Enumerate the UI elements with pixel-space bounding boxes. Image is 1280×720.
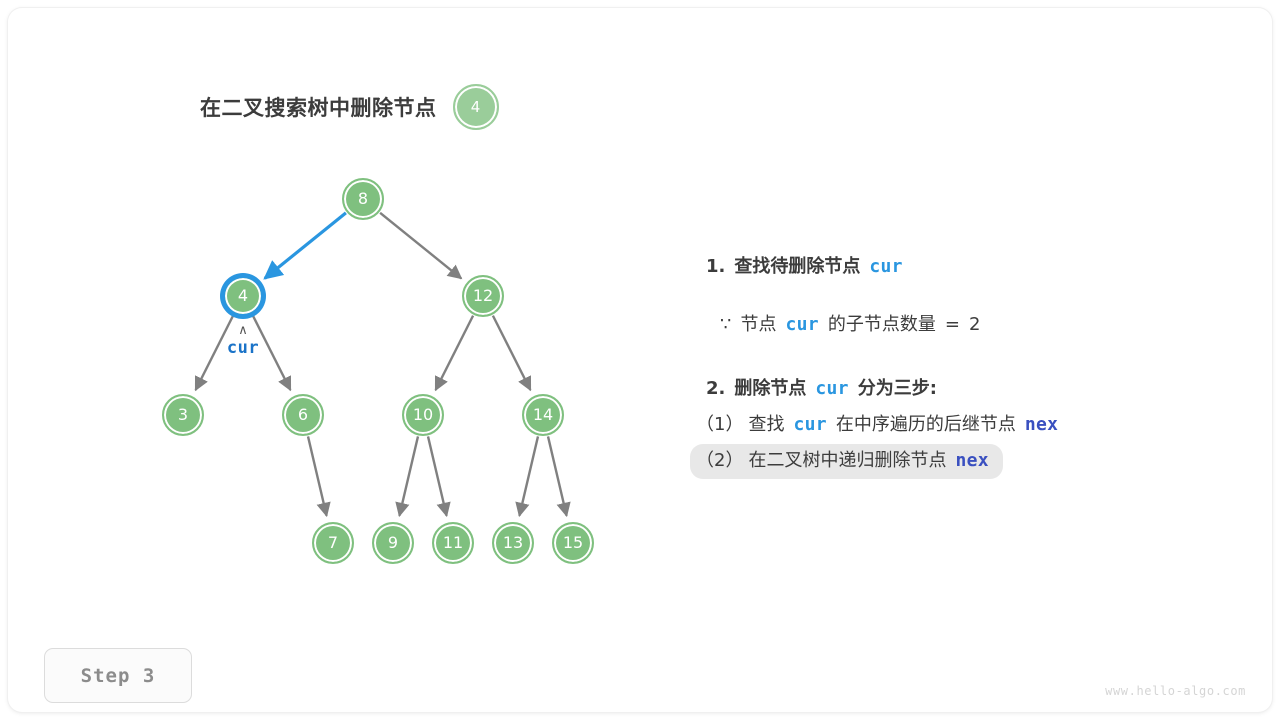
tree-node-7[interactable]: 7 xyxy=(312,522,354,564)
tree-node-15[interactable]: 15 xyxy=(552,522,594,564)
tree-node-10[interactable]: 10 xyxy=(402,394,444,436)
line5-text-1: 在二叉树中递归删除节点 xyxy=(748,452,946,470)
line4-var-cur: cur xyxy=(793,416,826,434)
tree-node-6[interactable]: 6 xyxy=(282,394,324,436)
tree-node-12[interactable]: 12 xyxy=(462,275,504,317)
tree-node-9[interactable]: 9 xyxy=(372,522,414,564)
cur-pointer-label: cur xyxy=(227,338,259,358)
step-badge: Step 3 xyxy=(44,648,192,703)
explanation-line-4: （1） 查找 cur 在中序遍历的后继节点 nex xyxy=(690,410,1230,440)
line2-text-2: 的 xyxy=(828,316,846,334)
line3-text-1: 删除节点 xyxy=(734,380,806,398)
because-symbol: ∵ xyxy=(720,316,731,334)
explanation-line-2: ∵ 节点 cur 的 子节点数量 = 2 xyxy=(690,310,1230,340)
tree-node-13[interactable]: 13 xyxy=(492,522,534,564)
line1-number: 1. xyxy=(706,258,725,276)
watermark: www.hello-algo.com xyxy=(1105,684,1246,698)
line3-text-2: 分为三步: xyxy=(858,380,937,398)
line4-text-2: 在中序遍历的后继节点 xyxy=(836,416,1016,434)
caret-icon: ∧ xyxy=(227,326,259,338)
line4-index: （1） xyxy=(696,416,743,434)
line3-var-cur: cur xyxy=(815,380,848,398)
tree-node-8[interactable]: 8 xyxy=(342,178,384,220)
line5-index: （2） xyxy=(696,452,743,470)
explanation-line-1: 1. 查找待删除节点 cur xyxy=(690,252,1230,282)
line2-text-1: 节点 xyxy=(740,316,776,334)
explanation-line-5-highlighted: （2） 在二叉树中递归删除节点 nex xyxy=(690,444,1003,479)
line2-value: 2 xyxy=(969,316,980,334)
diagram-frame: 在二叉搜索树中删除节点 4 841236101479111315 ∧ cur 1… xyxy=(8,8,1272,712)
line2-text-3: 子节点数量 xyxy=(846,316,936,334)
line1-var-cur: cur xyxy=(869,258,902,276)
tree-node-14[interactable]: 14 xyxy=(522,394,564,436)
tree-node-3[interactable]: 3 xyxy=(162,394,204,436)
line1-text: 查找待删除节点 xyxy=(734,258,860,276)
tree-node-4[interactable]: 4 xyxy=(222,275,264,317)
line5-var-nex: nex xyxy=(955,452,988,470)
line2-equals: = xyxy=(945,316,960,334)
step-badge-label: Step 3 xyxy=(81,665,156,687)
line4-text-1: 查找 xyxy=(748,416,784,434)
line2-var-cur: cur xyxy=(785,316,818,334)
cur-pointer-marker: ∧ cur xyxy=(227,326,259,358)
tree-nodes: 841236101479111315 xyxy=(8,8,708,628)
tree-node-11[interactable]: 11 xyxy=(432,522,474,564)
explanation-line-3: 2. 删除节点 cur 分为三步: xyxy=(690,374,1230,404)
line3-number: 2. xyxy=(706,380,725,398)
explanation-panel: 1. 查找待删除节点 cur ∵ 节点 cur 的 子节点数量 = 2 2. 删… xyxy=(690,252,1230,479)
line4-var-nex: nex xyxy=(1025,416,1058,434)
